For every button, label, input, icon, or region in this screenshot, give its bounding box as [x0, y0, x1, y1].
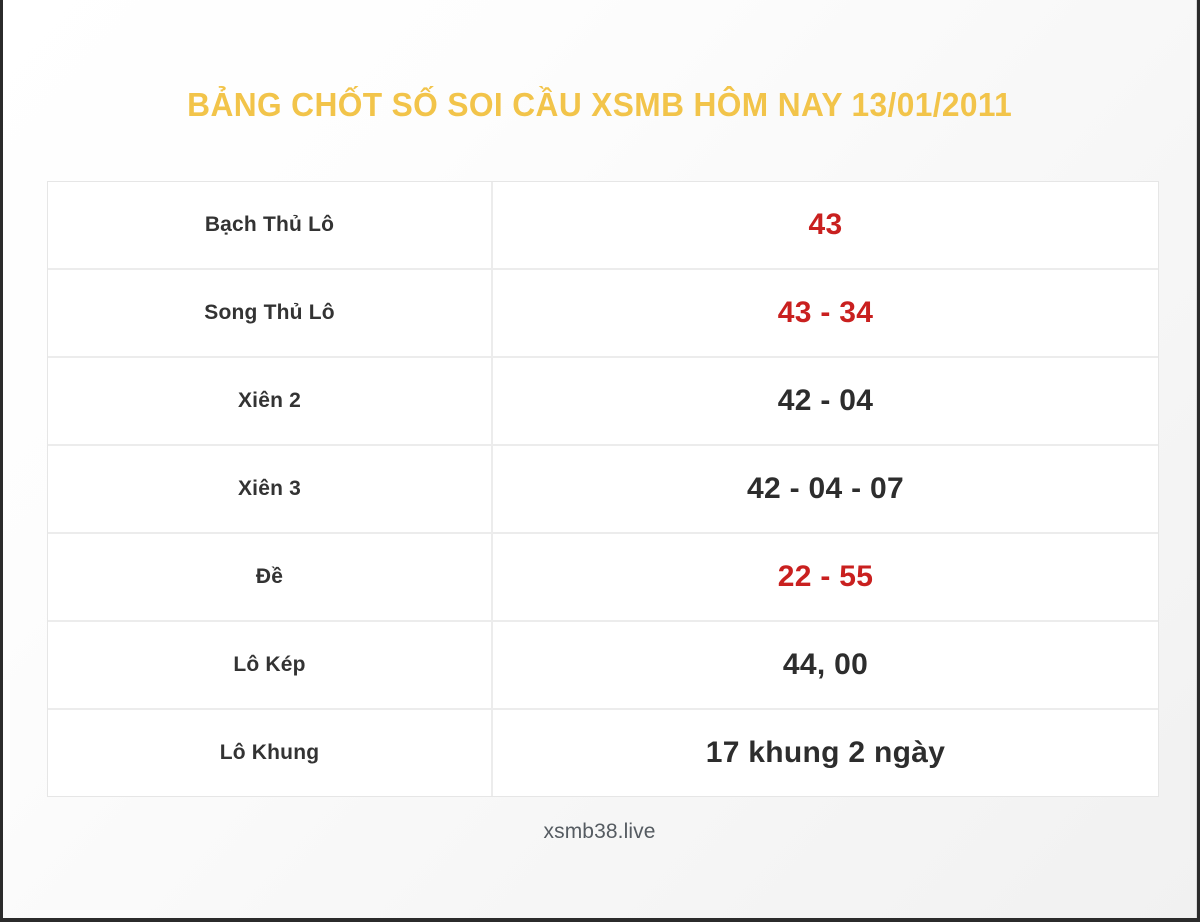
page-canvas: BẢNG CHỐT SỐ SOI CẦU XSMB HÔM NAY 13/01/… — [3, 0, 1197, 918]
row-value: 43 — [809, 208, 843, 242]
page-title: BẢNG CHỐT SỐ SOI CẦU XSMB HÔM NAY 13/01/… — [187, 86, 1012, 124]
row-label: Đề — [256, 565, 283, 589]
row-value: 22 - 55 — [778, 560, 874, 594]
row-label: Xiên 2 — [238, 389, 301, 413]
table-cell-value: 22 - 55 — [493, 534, 1158, 620]
table-row: Bạch Thủ Lô43 — [48, 182, 1158, 270]
row-value: 44, 00 — [783, 648, 868, 682]
row-label: Xiên 3 — [238, 477, 301, 501]
table-cell-label: Bạch Thủ Lô — [48, 182, 493, 268]
table-cell-value: 42 - 04 — [493, 358, 1158, 444]
table-cell-value: 42 - 04 - 07 — [493, 446, 1158, 532]
row-label: Lô Kép — [233, 653, 305, 677]
footer: xsmb38.live — [3, 820, 1196, 844]
table-cell-label: Đề — [48, 534, 493, 620]
row-value: 42 - 04 - 07 — [747, 472, 904, 506]
soi-cau-table: Bạch Thủ Lô43Song Thủ Lô43 - 34Xiên 242 … — [47, 181, 1159, 797]
table-cell-label: Xiên 2 — [48, 358, 493, 444]
table-cell-value: 17 khung 2 ngày — [493, 710, 1158, 796]
row-label: Lô Khung — [220, 741, 320, 765]
row-label: Song Thủ Lô — [204, 301, 335, 325]
table-row: Xiên 342 - 04 - 07 — [48, 446, 1158, 534]
table-cell-label: Lô Kép — [48, 622, 493, 708]
row-value: 42 - 04 — [778, 384, 874, 418]
row-value: 43 - 34 — [778, 296, 874, 330]
table-row: Lô Kép44, 00 — [48, 622, 1158, 710]
table-cell-value: 44, 00 — [493, 622, 1158, 708]
table-row: Xiên 242 - 04 — [48, 358, 1158, 446]
table-row: Song Thủ Lô43 - 34 — [48, 270, 1158, 358]
table-cell-label: Song Thủ Lô — [48, 270, 493, 356]
table-cell-value: 43 - 34 — [493, 270, 1158, 356]
site-watermark: xsmb38.live — [544, 820, 656, 843]
row-label: Bạch Thủ Lô — [205, 213, 334, 237]
table-row: Lô Khung17 khung 2 ngày — [48, 710, 1158, 797]
table-cell-label: Lô Khung — [48, 710, 493, 796]
table-cell-value: 43 — [493, 182, 1158, 268]
table-cell-label: Xiên 3 — [48, 446, 493, 532]
table-row: Đề22 - 55 — [48, 534, 1158, 622]
page-title-container: BẢNG CHỐT SỐ SOI CẦU XSMB HÔM NAY 13/01/… — [3, 86, 1196, 124]
row-value: 17 khung 2 ngày — [706, 736, 946, 770]
